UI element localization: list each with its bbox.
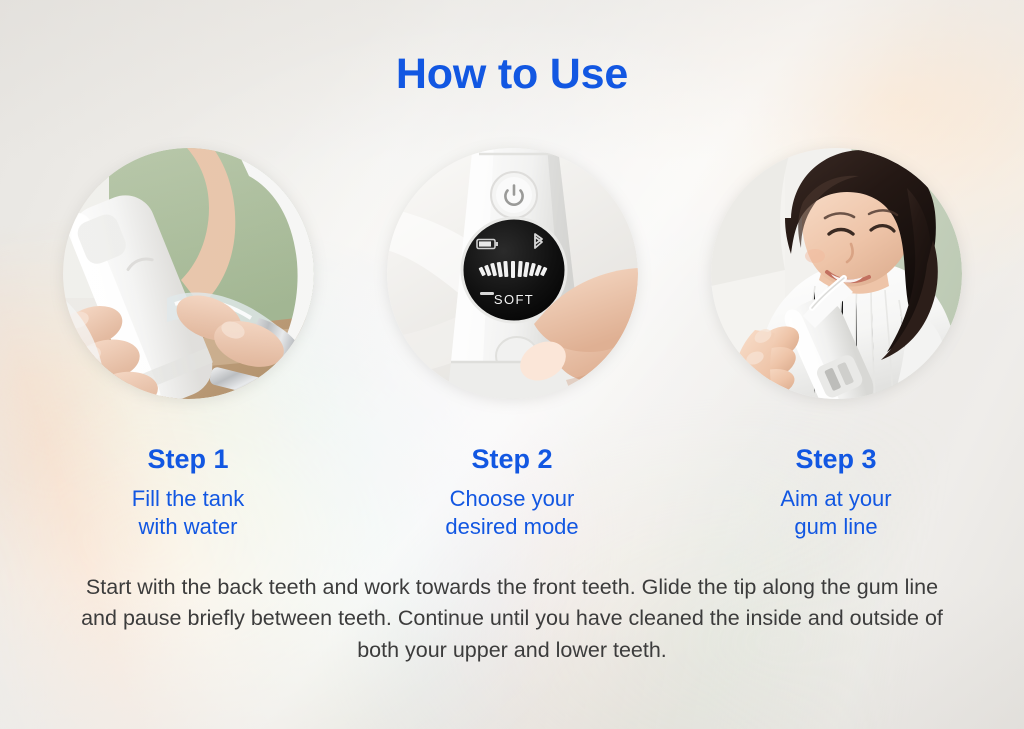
step-card-3: Step 3 Aim at your gum line — [711, 148, 962, 541]
usage-instructions-paragraph: Start with the back teeth and work towar… — [77, 572, 947, 666]
steps-row: Step 1 Fill the tank with water — [0, 148, 1024, 541]
step-2-caption: Choose your desired mode — [445, 485, 578, 541]
how-to-use-infographic: How to Use — [0, 0, 1024, 729]
step-card-2: SOFT — [387, 148, 638, 541]
photo-finger-selecting-mode-on-display: SOFT — [387, 148, 638, 399]
page-title: How to Use — [0, 50, 1024, 99]
step-2-heading: Step 2 — [471, 445, 552, 475]
content-area: How to Use — [0, 0, 1024, 729]
step-3-caption: Aim at your gum line — [780, 485, 891, 541]
step-1-heading: Step 1 — [147, 445, 228, 475]
photo-woman-using-flosser-on-gum-line — [711, 148, 962, 399]
step-card-1: Step 1 Fill the tank with water — [63, 148, 314, 541]
photo-hand-filling-tank-at-faucet — [63, 148, 314, 399]
device-mode-label: SOFT — [493, 292, 533, 307]
step-3-heading: Step 3 — [795, 445, 876, 475]
step-1-caption: Fill the tank with water — [132, 485, 245, 541]
